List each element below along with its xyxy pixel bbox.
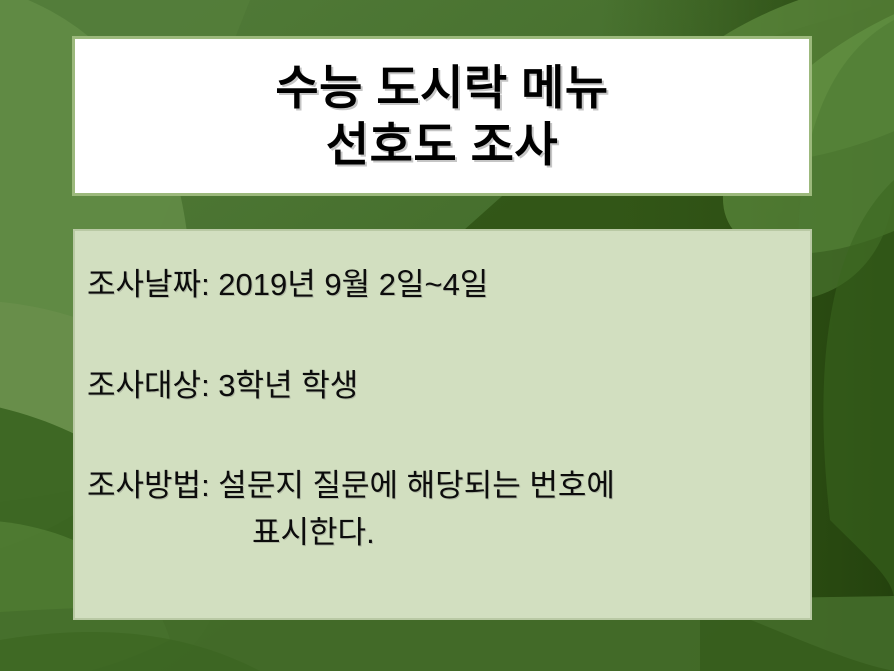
survey-target-line: 조사대상: 3학년 학생 — [87, 368, 796, 405]
survey-date-line: 조사날짜: 2019년 9월 2일~4일 — [87, 267, 796, 304]
slide-title-line-2: 선호도 조사 — [326, 116, 558, 173]
content-spacer-1 — [87, 304, 796, 368]
slide-content-box: 조사날짜: 2019년 9월 2일~4일 조사대상: 3학년 학생 조사방법: … — [73, 229, 812, 620]
survey-method-line-2: 표시한다. — [87, 515, 796, 552]
slide-title-line-1: 수능 도시락 메뉴 — [275, 59, 608, 116]
survey-method-line-1: 조사방법: 설문지 질문에 해당되는 번호에 — [87, 468, 796, 505]
content-spacer-3 — [87, 505, 796, 515]
content-spacer-2 — [87, 404, 796, 468]
slide-title-box: 수능 도시락 메뉴 선호도 조사 — [72, 36, 812, 196]
presentation-slide: 수능 도시락 메뉴 선호도 조사 조사날짜: 2019년 9월 2일~4일 조사… — [0, 0, 894, 671]
